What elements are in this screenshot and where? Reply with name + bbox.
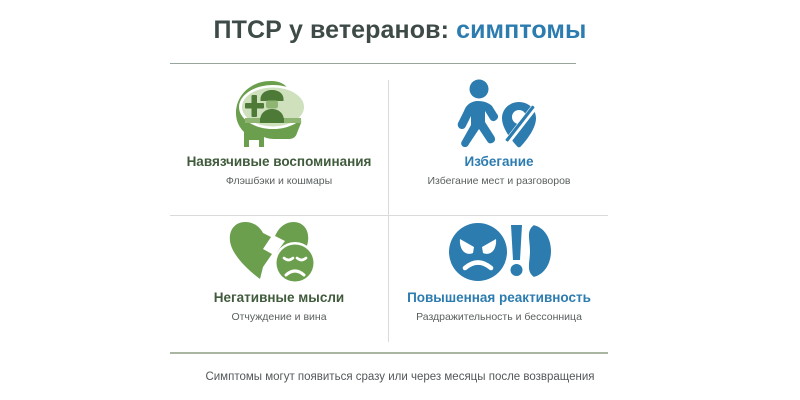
head-with-soldier-thought-icon xyxy=(227,77,331,151)
icon-container xyxy=(449,76,549,152)
page-title: ПТСР у ветеранов: симптомы xyxy=(0,14,800,46)
quadrant-subtitle: Флэшбэки и кошмары xyxy=(226,174,332,188)
icon-container xyxy=(227,216,331,288)
footnote-text: Симптомы могут появиться сразу или через… xyxy=(0,370,800,385)
quadrant-avoidance: Избегание Избегание мест и разговоров xyxy=(390,76,608,211)
grid-vertical-divider xyxy=(388,80,389,342)
quadrant-title: Избегание xyxy=(464,154,533,170)
quadrant-title: Навязчивые воспоминания xyxy=(187,154,372,170)
broken-heart-sad-face-icon xyxy=(227,219,331,285)
quadrant-title: Повышенная реактивность xyxy=(407,290,591,306)
quadrant-subtitle: Избегание мест и разговоров xyxy=(427,174,570,188)
quadrant-hyperarousal: Повышенная реактивность Раздражительност… xyxy=(390,216,608,351)
quadrant-title: Негативные мысли xyxy=(214,290,344,306)
footer-divider xyxy=(170,352,608,354)
icon-container xyxy=(447,216,551,288)
quadrant-intrusive-memories: Навязчивые воспоминания Флэшбэки и кошма… xyxy=(170,76,388,211)
quadrant-negative-thoughts: Негативные мысли Отчуждение и вина xyxy=(170,216,388,351)
ptsd-symptoms-infographic: ПТСР у ветеранов: симптомы xyxy=(0,0,800,400)
walking-person-no-location-icon xyxy=(449,78,549,150)
page-title-accent: симптомы xyxy=(456,16,586,44)
quadrant-subtitle: Отчуждение и вина xyxy=(231,310,326,324)
page-title-main: ПТСР у ветеранов: xyxy=(214,16,449,44)
header-divider xyxy=(170,63,576,64)
header: ПТСР у ветеранов: симптомы xyxy=(0,14,800,46)
angry-face-exclamation-moon-icon xyxy=(447,220,551,284)
symptom-grid: Навязчивые воспоминания Флэшбэки и кошма… xyxy=(170,76,608,346)
icon-container xyxy=(227,76,331,152)
quadrant-subtitle: Раздражительность и бессонница xyxy=(416,310,582,324)
